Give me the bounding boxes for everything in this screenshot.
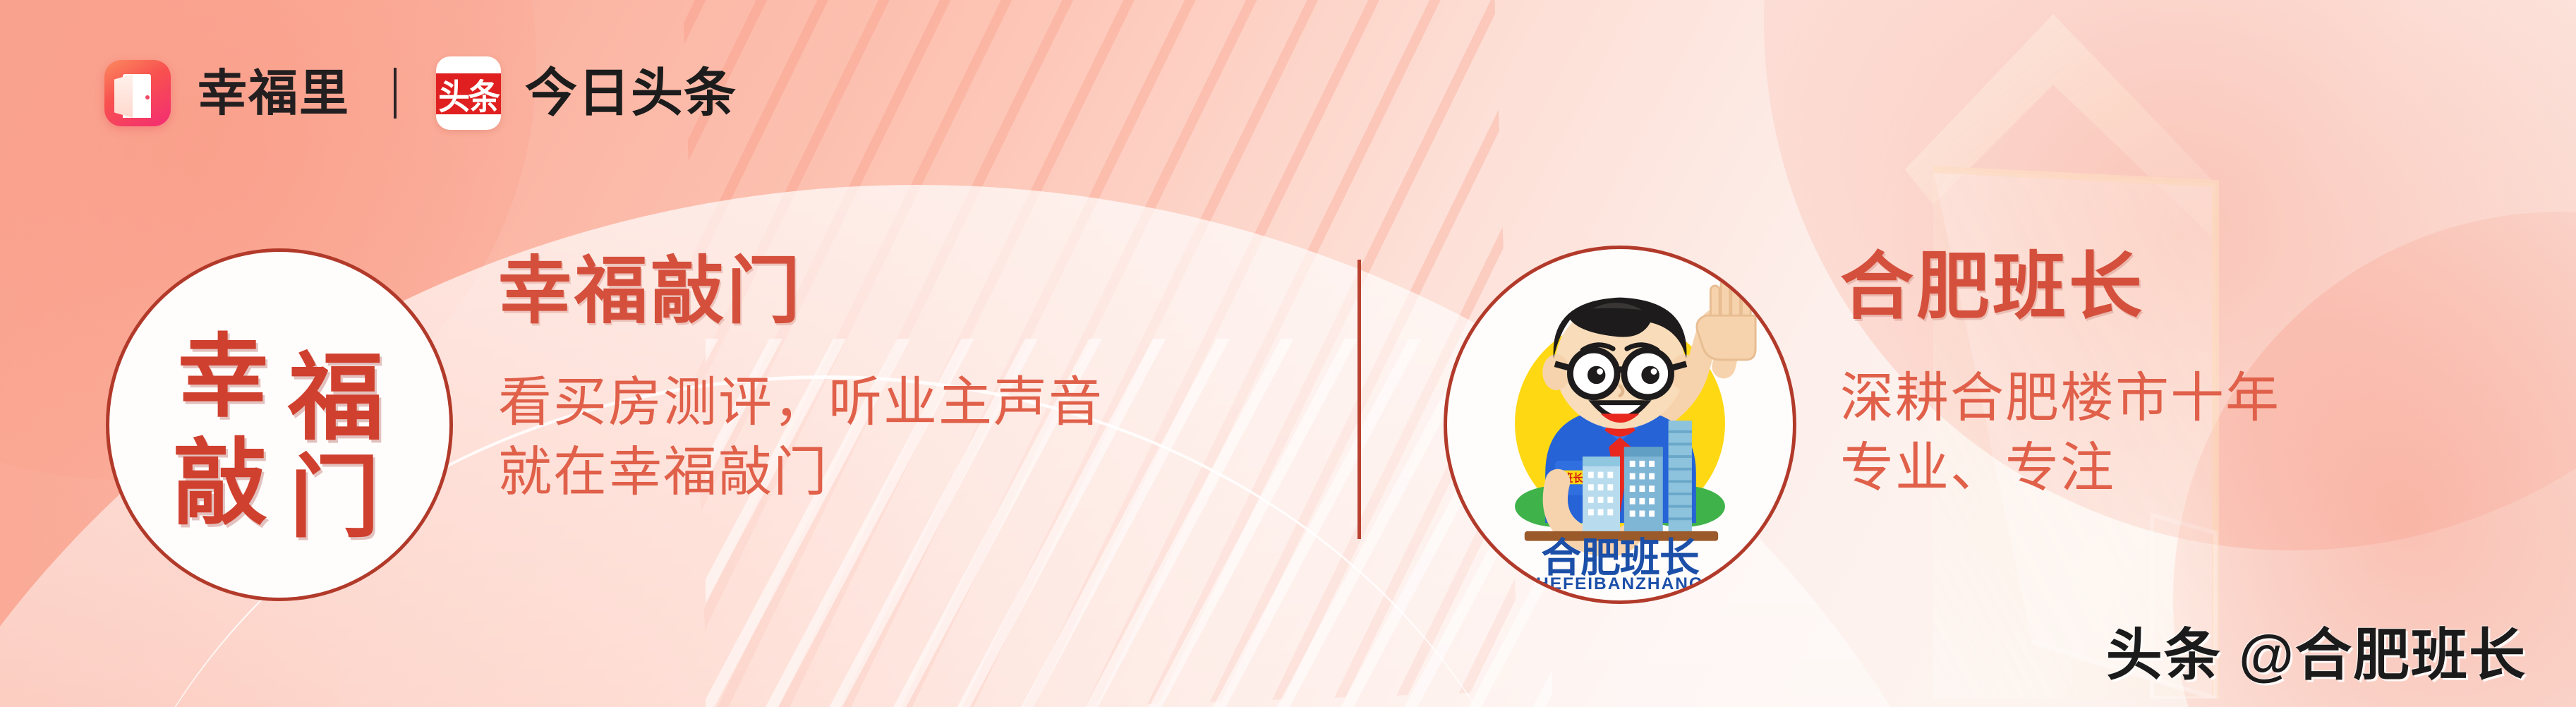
column-subtitle-left: 看买房测评，听业主声音 就在幸福敲门 [498,368,1103,508]
banner-header: 幸福里 头条 今日头条 [104,55,737,131]
column-title-xingfu-qiaomen: 幸福敲门 [498,254,1103,329]
hefei-banzhang-mascot-badge: 班长 [1444,246,1796,604]
door-app-icon [104,60,171,126]
toutiao-app-icon: 头条 [436,56,501,130]
brand-name-toutiao: 今日头条 [525,67,737,119]
column-text-right: 合肥班长 深耕合肥楼市十年 专业、专注 [1840,250,2280,504]
brand-name-xingfuli: 幸福里 [198,68,350,118]
toutiao-icon-plate: 头条 [436,73,501,114]
toutiao-watermark: 头条 @合肥班长 [2106,610,2527,691]
seal-char-3: 敲 [173,446,267,523]
column-text-left: 幸福敲门 看买房测评，听业主声音 就在幸福敲门 [498,254,1103,508]
svg-text:HEFEIBANZHANG: HEFEIBANZHANG [1536,574,1704,593]
subtitle-line: 深耕合肥楼市十年 [1840,364,2280,434]
door-leaf-shape [114,74,133,118]
column-title-hefei-banzhang: 合肥班长 [1840,250,2280,325]
column-divider [1357,260,1361,539]
column-subtitle-right: 深耕合肥楼市十年 专业、专注 [1840,364,2280,504]
header-divider [394,68,397,119]
toutiao-icon-label: 头条 [438,68,499,119]
banner-body: 幸 福 敲 门 幸福敲门 看买房测评，听业主声音 就在幸福敲门 [0,233,2576,628]
subtitle-line: 就在幸福敲门 [498,438,1103,508]
seal-char-1: 幸 [178,341,268,415]
seal-char-4: 门 [289,461,380,536]
seal-char-2: 福 [288,360,384,438]
subtitle-line: 专业、专注 [1840,434,2280,504]
promo-banner: 幸福里 头条 今日头条 幸 福 敲 门 幸福敲门 看买房测评，听业主声音 就在幸… [0,0,2576,707]
door-knob-shape [145,95,150,99]
xingfu-qiaomen-seal-badge: 幸 福 敲 门 [106,248,453,601]
hefei-banzhang-mascot: 班长 [1447,249,1793,600]
xingfu-qiaomen-seal: 幸 福 敲 门 [109,252,449,598]
subtitle-line: 看买房测评，听业主声音 [498,368,1103,438]
